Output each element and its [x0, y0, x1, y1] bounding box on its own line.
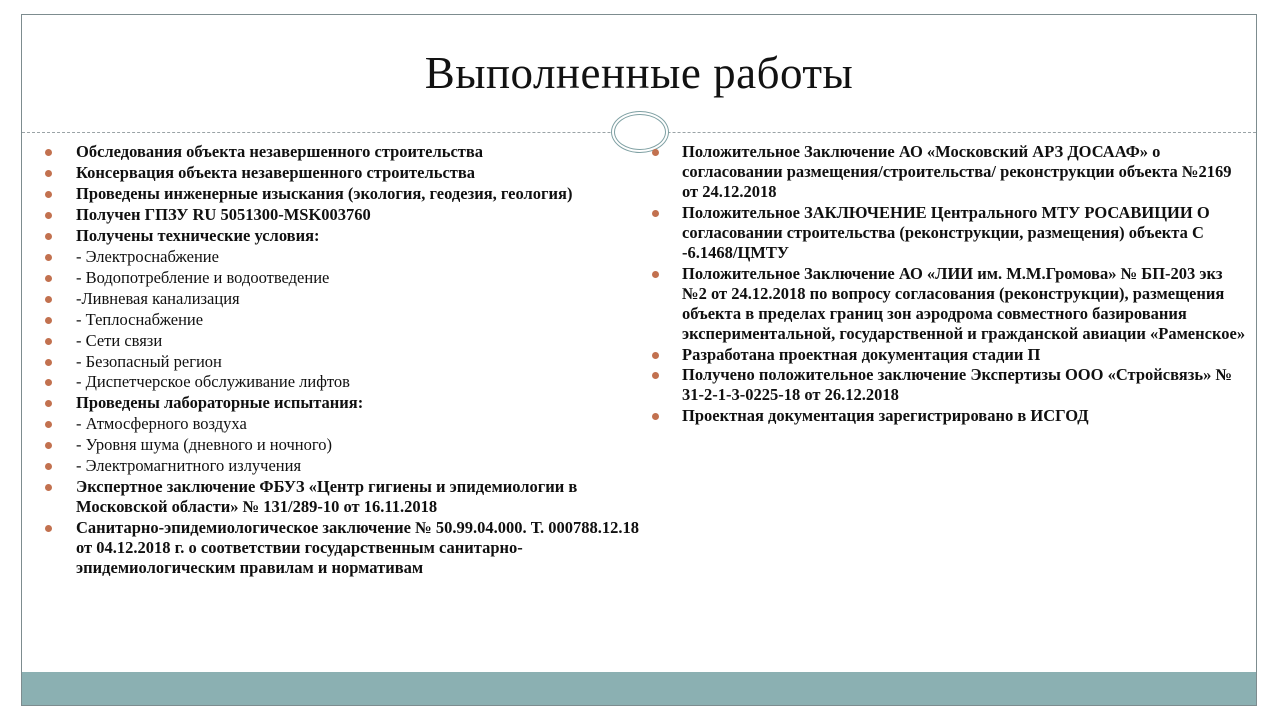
list-item-label: - Сети связи	[76, 331, 162, 350]
list-item-label: - Атмосферного воздуха	[76, 414, 247, 433]
page-title: Выполненные работы	[21, 32, 1257, 97]
list-item-label: Получены технические условия:	[76, 226, 320, 245]
list-item: Обследования объекта незавершенного стро…	[40, 142, 640, 162]
footer-accent-band	[22, 672, 1256, 705]
bullet-dot-icon	[45, 191, 52, 198]
list-item-label: - Уровня шума (дневного и ночного)	[76, 435, 332, 454]
list-item: Положительное Заключение АО «Московский …	[648, 142, 1248, 202]
bullet-dot-icon	[45, 170, 52, 177]
list-item-label: Санитарно-эпидемиологическое заключение …	[76, 518, 639, 577]
list-item: Положительное ЗАКЛЮЧЕНИЕ Центрального МТ…	[648, 203, 1248, 263]
list-item: - Электромагнитного излучения	[40, 456, 640, 476]
bullet-dot-icon	[45, 484, 52, 491]
bullet-dot-icon	[45, 400, 52, 407]
bullet-dot-icon	[45, 254, 52, 261]
list-item: - Атмосферного воздуха	[40, 414, 640, 434]
bullet-dot-icon	[45, 296, 52, 303]
list-item: Получено положительное заключение Экспер…	[648, 365, 1248, 405]
list-item: Положительное Заключение АО «ЛИИ им. М.М…	[648, 264, 1248, 344]
list-item-label: Получен ГПЗУ RU 5051300-MSK003760	[76, 205, 371, 224]
bullet-dot-icon	[652, 372, 659, 379]
list-item: - Сети связи	[40, 331, 640, 351]
bullet-dot-icon	[652, 149, 659, 156]
bullet-dot-icon	[45, 379, 52, 386]
bullet-dot-icon	[652, 413, 659, 420]
list-item-label: Положительное Заключение АО «ЛИИ им. М.М…	[682, 264, 1245, 343]
list-item-label: Экспертное заключение ФБУЗ «Центр гигиен…	[76, 477, 577, 516]
list-item-label: - Теплоснабжение	[76, 310, 203, 329]
bullet-dot-icon	[45, 525, 52, 532]
bullet-dot-icon	[45, 359, 52, 366]
list-item: Проектная документация зарегистрировано …	[648, 406, 1248, 426]
list-item: -Ливневая канализация	[40, 289, 640, 309]
list-item-label: - Диспетчерское обслуживание лифтов	[76, 372, 350, 391]
list-item-label: Получено положительное заключение Экспер…	[682, 365, 1232, 404]
list-item: - Диспетчерское обслуживание лифтов	[40, 372, 640, 392]
list-item-label: Проведены лабораторные испытания:	[76, 393, 363, 412]
bullet-dot-icon	[45, 442, 52, 449]
list-item-label: Консервация объекта незавершенного строи…	[76, 163, 475, 182]
list-item-label: - Водопотребление и водоотведение	[76, 268, 329, 287]
list-item-label: - Электромагнитного излучения	[76, 456, 301, 475]
left-content-column: Обследования объекта незавершенного стро…	[40, 142, 640, 579]
list-item: Экспертное заключение ФБУЗ «Центр гигиен…	[40, 477, 640, 517]
bullet-dot-icon	[652, 210, 659, 217]
list-item-label: -Ливневая канализация	[76, 289, 240, 308]
list-item-label: Обследования объекта незавершенного стро…	[76, 142, 483, 161]
list-item: - Уровня шума (дневного и ночного)	[40, 435, 640, 455]
list-item-label: Положительное Заключение АО «Московский …	[682, 142, 1231, 201]
list-item: Проведены инженерные изыскания (экология…	[40, 184, 640, 204]
list-item-label: - Электроснабжение	[76, 247, 219, 266]
presentation-slide: Выполненные работы Обследования объекта …	[0, 0, 1280, 720]
list-item: Получены технические условия:	[40, 226, 640, 246]
bullet-dot-icon	[45, 212, 52, 219]
bullet-dot-icon	[45, 275, 52, 282]
bullet-dot-icon	[45, 421, 52, 428]
bullet-dot-icon	[45, 317, 52, 324]
right-bullet-list: Положительное Заключение АО «Московский …	[648, 142, 1248, 426]
list-item: - Безопасный регион	[40, 352, 640, 372]
list-item-label: - Безопасный регион	[76, 352, 222, 371]
left-bullet-list: Обследования объекта незавершенного стро…	[40, 142, 640, 578]
bullet-dot-icon	[45, 463, 52, 470]
bullet-dot-icon	[45, 338, 52, 345]
bullet-dot-icon	[652, 352, 659, 359]
bullet-dot-icon	[652, 271, 659, 278]
list-item: - Теплоснабжение	[40, 310, 640, 330]
list-item: Проведены лабораторные испытания:	[40, 393, 640, 413]
right-content-column: Положительное Заключение АО «Московский …	[648, 142, 1248, 427]
list-item: Разработана проектная документация стади…	[648, 345, 1248, 365]
bullet-dot-icon	[45, 233, 52, 240]
list-item: - Электроснабжение	[40, 247, 640, 267]
list-item: Получен ГПЗУ RU 5051300-MSK003760	[40, 205, 640, 225]
list-item: Консервация объекта незавершенного строи…	[40, 163, 640, 183]
list-item: Санитарно-эпидемиологическое заключение …	[40, 518, 640, 578]
list-item-label: Проектная документация зарегистрировано …	[682, 406, 1089, 425]
list-item-label: Положительное ЗАКЛЮЧЕНИЕ Центрального МТ…	[682, 203, 1210, 262]
list-item-label: Проведены инженерные изыскания (экология…	[76, 184, 572, 203]
list-item-label: Разработана проектная документация стади…	[682, 345, 1040, 364]
bullet-dot-icon	[45, 149, 52, 156]
list-item: - Водопотребление и водоотведение	[40, 268, 640, 288]
